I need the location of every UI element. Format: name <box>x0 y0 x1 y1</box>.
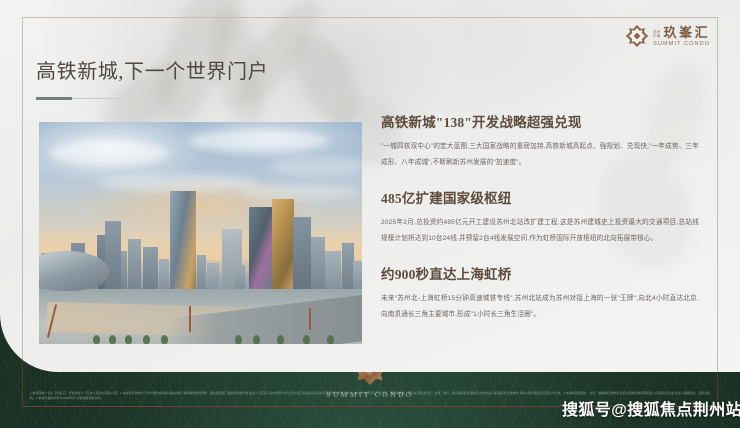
slide-root: SUMMIT CONDO 1.本项目推广名为【玖峯汇】,开发单位为【苏州山海置业… <box>0 0 740 428</box>
feature-body: "一城四核双中心"的宏大蓝图,三大国家战略的重磅加持,高铁新城高起点、强规划、兑… <box>381 139 699 170</box>
feature-item: 高铁新城"138"开发战略超强兑现 "一城四核双中心"的宏大蓝图,三大国家战略的… <box>381 113 699 170</box>
brand-name-cn: 玖峯汇 <box>664 26 711 39</box>
content-page: 苏州 中南 玖峯汇 SUMMIT CONDO 高铁新城,下一个世界门户 <box>0 0 740 372</box>
city-skyline-photo <box>39 122 362 344</box>
diamond-emblem-icon <box>626 25 648 47</box>
feature-item: 485亿扩建国家级枢纽 2025年2月,总投资约485亿元开工建设苏州北站改扩建… <box>381 189 699 246</box>
feature-item: 约900秒直达上海虹桥 未来"苏州北-上海虹桥15分钟高速城铁专线",苏州北站成… <box>381 265 699 322</box>
feature-body: 2025年2月,总投资约485亿元开工建设苏州北站改扩建工程,这是苏州建城史上投… <box>381 215 699 246</box>
feature-heading: 485亿扩建国家级枢纽 <box>381 189 699 208</box>
feature-body: 未来"苏州北-上海虹桥15分钟高速城铁专线",苏州北站成为苏州对接上海的一张"王… <box>381 291 699 322</box>
legal-disclaimer: 1.本项目推广名为【玖峯汇】,开发单位为【苏州山海置业有限公司】。2.本资料仅供… <box>30 391 710 401</box>
source-watermark: 搜狐号@搜狐焦点荆州站 <box>562 401 740 421</box>
brand-sub-characters: 苏州 中南 <box>653 30 661 39</box>
header-brand-logo: 苏州 中南 玖峯汇 SUMMIT CONDO <box>626 25 710 47</box>
brand-name-en: SUMMIT CONDO <box>653 41 710 47</box>
brand-sub-bottom: 中南 <box>653 34 661 38</box>
feature-list: 高铁新城"138"开发战略超强兑现 "一城四核双中心"的宏大蓝图,三大国家战略的… <box>381 113 699 341</box>
title-accent-rule <box>36 97 122 100</box>
feature-heading: 约900秒直达上海虹桥 <box>381 265 699 284</box>
page-title: 高铁新城,下一个世界门户 <box>36 59 268 85</box>
feature-heading: 高铁新城"138"开发战略超强兑现 <box>381 113 699 132</box>
